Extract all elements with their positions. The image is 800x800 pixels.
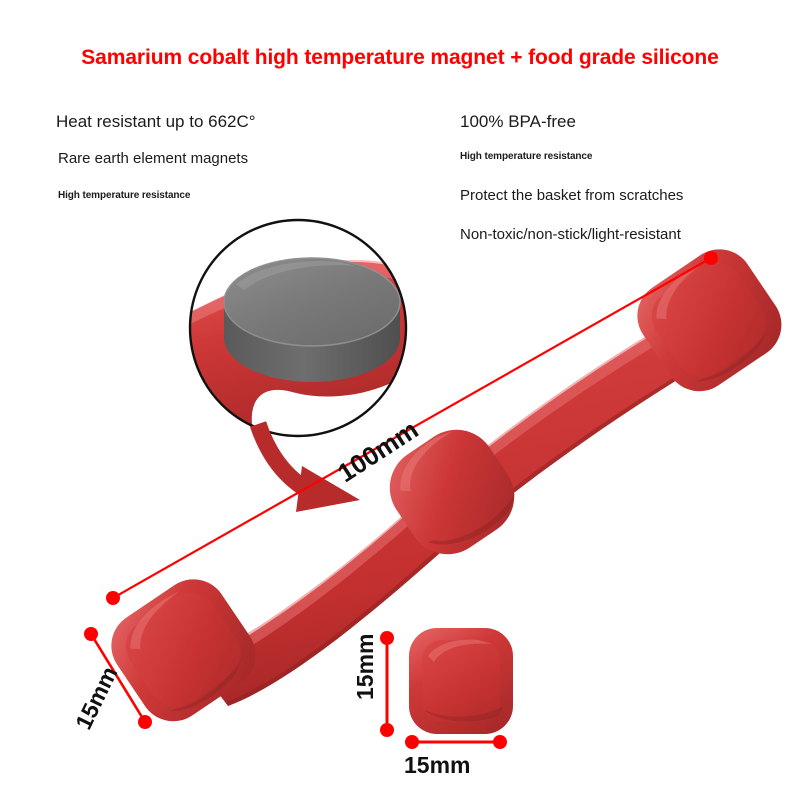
dimension-label-pad-width: 15mm — [404, 752, 470, 779]
dimension-label-pad-height: 15mm — [352, 634, 379, 700]
small-pad-sample — [409, 628, 513, 734]
infographic-canvas: Samarium cobalt high temperature magnet … — [0, 0, 800, 800]
